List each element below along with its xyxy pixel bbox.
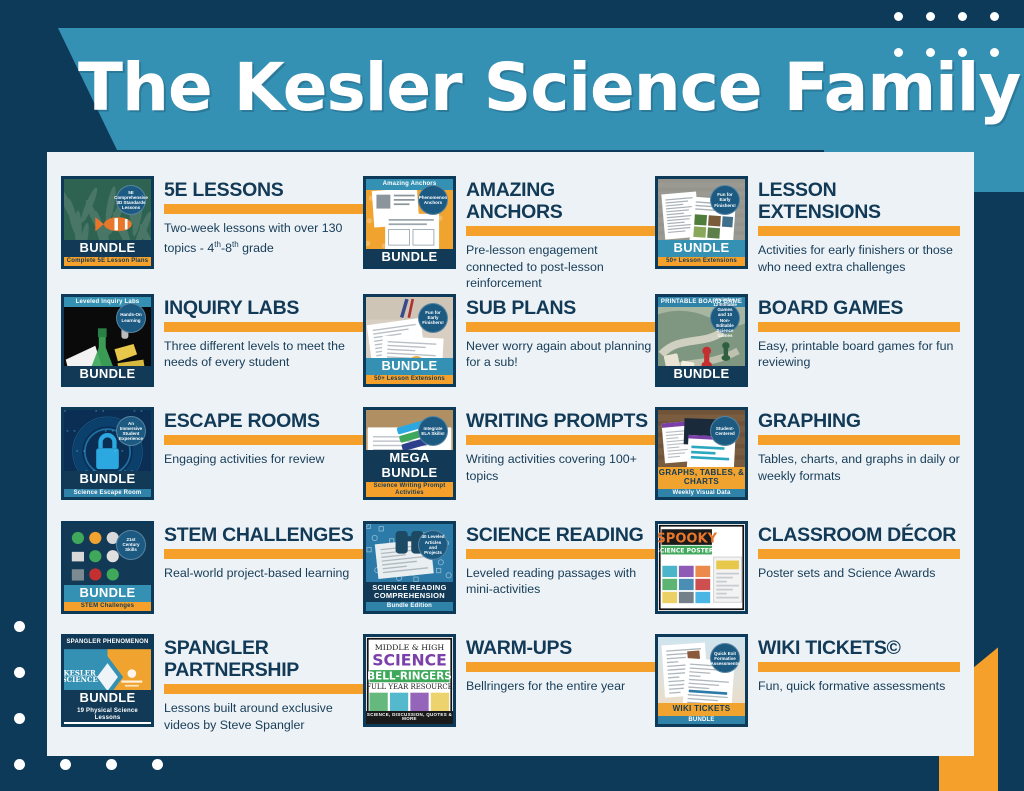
product-text-block: SCIENCE READINGLeveled reading passages …: [466, 521, 655, 598]
product-title: SPANGLER PARTNERSHIP: [164, 637, 363, 681]
poster-canvas: The Kesler Science Family 5E Comprehensi…: [0, 0, 1024, 791]
product-item[interactable]: Student-CenteredGRAPHS, TABLES, & CHARTS…: [655, 405, 960, 519]
title-underline-bar: [758, 226, 960, 236]
thumbnail-caption-group: BUNDLE: [366, 249, 453, 266]
product-thumbnail[interactable]: Integrate ELA Skills!MEGA BUNDLEScience …: [363, 407, 456, 500]
thumbnail-subcaption: Bundle Edition: [366, 602, 453, 611]
svg-text:BELL-RINGERS: BELL-RINGERS: [367, 671, 452, 683]
thumbnail-subcaption: Science Escape Room: [64, 489, 151, 498]
thumbnail-subcaption: 50+ Lesson Extensions: [366, 375, 453, 384]
thumbnail-badge: Hands-On Learning: [116, 303, 146, 333]
thumbnail-subcaption: Science Writing Prompt Activities: [366, 482, 453, 497]
decor-dot: [990, 12, 999, 21]
product-thumbnail[interactable]: Amazing AnchorsPhenomenon AnchorsBUNDLE: [363, 176, 456, 269]
thumbnail-caption-group: SCIENCE READING COMPREHENSIONBundle Edit…: [366, 582, 453, 611]
thumbnail-caption: BUNDLE: [64, 366, 151, 383]
title-underline-bar: [758, 322, 960, 332]
product-thumbnail[interactable]: 40 Leveled Articles and ProjectsSCIENCE …: [363, 521, 456, 614]
thumbnail-caption-group: BUNDLESTEM Challenges: [64, 585, 151, 611]
thumbnail-caption-group: WIKI TICKETSBUNDLE: [658, 703, 745, 724]
title-underline-bar: [164, 684, 363, 694]
product-item[interactable]: 21st Century SkillsBUNDLESTEM Challenges…: [61, 519, 363, 633]
thumbnail-top-label: SPANGLER PHENOMENON: [64, 637, 151, 648]
product-description: Real-world project-based learning: [164, 565, 363, 582]
product-item[interactable]: Amazing AnchorsPhenomenon AnchorsBUNDLEA…: [363, 174, 655, 292]
thumbnail-caption-group: MEGA BUNDLEScience Writing Prompt Activi…: [366, 450, 453, 497]
product-thumbnail[interactable]: SPOOKY SCIENCE POSTERS SPOOKY: [655, 521, 748, 614]
thumbnail-caption-group: BUNDLE: [658, 366, 745, 383]
product-item[interactable]: PRINTABLE BOARD GAMEIncludes 12 Editable…: [655, 292, 960, 406]
title-underline-bar: [466, 435, 655, 445]
thumbnail-caption: BUNDLE: [64, 690, 151, 707]
product-description: Poster sets and Science Awards: [758, 565, 960, 582]
product-description: Bellringers for the entire year: [466, 678, 655, 695]
page-title: The Kesler Science Family: [78, 40, 1020, 136]
product-thumbnail[interactable]: Quick Exit Formative AssessmentsWIKI TIC…: [655, 634, 748, 727]
product-description: Pre-lesson engagement connected to post-…: [466, 242, 655, 292]
product-title: CLASSROOM DÉCOR: [758, 524, 960, 546]
product-text-block: INQUIRY LABSThree different levels to me…: [164, 294, 363, 371]
product-description: Two-week lessons with over 130 topics - …: [164, 220, 363, 256]
thumbnail-caption-group: SCIENCE, DISCUSSION, QUOTES & MORE: [366, 711, 453, 725]
thumbnail-caption: GRAPHS, TABLES, & CHARTS: [658, 467, 745, 489]
product-title: AMAZING ANCHORS: [466, 179, 655, 223]
thumbnail-subcaption: 50+ Lesson Extensions: [658, 257, 745, 266]
product-title: STEM CHALLENGES: [164, 524, 363, 546]
thumbnail-badge: Includes 12 Editable Games and 10 Non-Ed…: [710, 303, 740, 333]
product-thumbnail[interactable]: Student-CenteredGRAPHS, TABLES, & CHARTS…: [655, 407, 748, 500]
svg-text:SCIENCE: SCIENCE: [64, 676, 98, 685]
thumbnail-caption-group: GRAPHS, TABLES, & CHARTSWeekly Visual Da…: [658, 467, 745, 497]
bottom-right-navy-strip: [998, 596, 1024, 791]
product-text-block: SUB PLANSNever worry again about plannin…: [466, 294, 655, 371]
title-underline-bar: [164, 204, 363, 214]
thumbnail-caption-group: BUNDLE50+ Lesson Extensions: [366, 358, 453, 384]
thumbnail-caption: BUNDLE: [366, 358, 453, 375]
product-thumbnail[interactable]: 5E Comprehensive 3D Standards LessonsBUN…: [61, 176, 154, 269]
product-thumbnail[interactable]: Leveled Inquiry LabsHands-On LearningBUN…: [61, 294, 154, 387]
product-title: 5E LESSONS: [164, 179, 363, 201]
product-text-block: ESCAPE ROOMSEngaging activities for revi…: [164, 407, 363, 468]
product-title: ESCAPE ROOMS: [164, 410, 363, 432]
svg-text:FULL YEAR RESOURCE: FULL YEAR RESOURCE: [366, 684, 453, 692]
product-title: LESSON EXTENSIONS: [758, 179, 960, 223]
thumbnail-caption-group: BUNDLEComplete 5E Lesson Plans: [64, 240, 151, 266]
product-title: WARM-UPS: [466, 637, 655, 659]
product-item[interactable]: An Immersive Student ExperienceBUNDLESci…: [61, 405, 363, 519]
thumbnail-badge: 21st Century Skills: [116, 530, 146, 560]
thumbnail-badge: 40 Leveled Articles and Projects: [418, 530, 448, 560]
decor-dot: [14, 759, 25, 770]
thumbnail-caption-group: BUNDLE: [64, 366, 151, 383]
product-text-block: 5E LESSONSTwo-week lessons with over 130…: [164, 176, 363, 256]
thumbnail-badge: Fun for Early Finishers!: [418, 303, 448, 333]
product-description: Fun, quick formative assessments: [758, 678, 960, 695]
decor-dot: [60, 759, 71, 770]
product-text-block: GRAPHINGTables, charts, and graphs in da…: [758, 407, 960, 484]
product-text-block: WARM-UPSBellringers for the entire year: [466, 634, 655, 695]
decor-dot: [14, 667, 25, 678]
thumbnail-badge: Integrate ELA Skills!: [418, 416, 448, 446]
product-text-block: STEM CHALLENGESReal-world project-based …: [164, 521, 363, 582]
product-title: BOARD GAMES: [758, 297, 960, 319]
thumbnail-caption: BUNDLE: [658, 240, 745, 257]
product-text-block: WRITING PROMPTSWriting activities coveri…: [466, 407, 655, 484]
product-item[interactable]: 40 Leveled Articles and ProjectsSCIENCE …: [363, 519, 655, 633]
product-thumbnail[interactable]: KESLER SCIENCE SPANGLER PHENOMENONBUNDLE…: [61, 634, 154, 727]
product-item[interactable]: SPOOKY SCIENCE POSTERS SPOOKYCLASSROOM D…: [655, 519, 960, 633]
product-title: SCIENCE READING: [466, 524, 655, 546]
thumbnail-caption-group: BUNDLEScience Escape Room: [64, 471, 151, 497]
thumbnail-caption-group: BUNDLE50+ Lesson Extensions: [658, 240, 745, 266]
products-card: 5E Comprehensive 3D Standards LessonsBUN…: [47, 152, 974, 756]
product-description: Three different levels to meet the needs…: [164, 338, 363, 371]
product-thumbnail[interactable]: An Immersive Student ExperienceBUNDLESci…: [61, 407, 154, 500]
title-underline-bar: [164, 549, 363, 559]
title-underline-bar: [466, 549, 655, 559]
decor-dot: [106, 759, 117, 770]
thumbnail-subcaption: STEM Challenges: [64, 602, 151, 611]
thumbnail-badge: Student-Centered: [710, 416, 740, 446]
thumbnail-caption-group: BUNDLE19 Physical Science Lessons: [64, 690, 151, 724]
thumbnail-badge: Phenomenon Anchors: [418, 185, 448, 215]
title-underline-bar: [466, 662, 655, 672]
title-underline-bar: [164, 322, 363, 332]
product-description: Writing activities covering 100+ topics: [466, 451, 655, 484]
products-grid: 5E Comprehensive 3D Standards LessonsBUN…: [61, 174, 960, 746]
product-text-block: AMAZING ANCHORSPre-lesson engagement con…: [466, 176, 655, 292]
thumbnail-caption: BUNDLE: [64, 240, 151, 257]
product-item[interactable]: Quick Exit Formative AssessmentsWIKI TIC…: [655, 632, 960, 746]
product-thumbnail[interactable]: 21st Century SkillsBUNDLESTEM Challenges: [61, 521, 154, 614]
product-description: Activities for early finishers or those …: [758, 242, 960, 275]
thumbnail-subcaption: Weekly Visual Data: [658, 489, 745, 498]
product-title: SUB PLANS: [466, 297, 655, 319]
decor-dot: [958, 12, 967, 21]
title-underline-bar: [466, 322, 655, 332]
thumbnail-subcaption: 19 Physical Science Lessons: [64, 707, 151, 724]
title-underline-bar: [164, 435, 363, 445]
product-item[interactable]: Fun for Early Finishers!BUNDLE50+ Lesson…: [655, 174, 960, 292]
title-underline-bar: [758, 435, 960, 445]
product-description: Leveled reading passages with mini-activ…: [466, 565, 655, 598]
thumbnail-badge: Fun for Early Finishers!: [710, 185, 740, 215]
product-item[interactable]: Leveled Inquiry LabsHands-On LearningBUN…: [61, 292, 363, 406]
product-title: WRITING PROMPTS: [466, 410, 655, 432]
decor-dot: [152, 759, 163, 770]
product-title: INQUIRY LABS: [164, 297, 363, 319]
thumbnail-artwork: SPOOKY SCIENCE POSTERS: [658, 524, 745, 611]
product-thumbnail[interactable]: Fun for Early Finishers!BUNDLE50+ Lesson…: [363, 294, 456, 387]
decor-dot: [926, 12, 935, 21]
product-description: Tables, charts, and graphs in daily or w…: [758, 451, 960, 484]
product-thumbnail[interactable]: PRINTABLE BOARD GAMEIncludes 12 Editable…: [655, 294, 748, 387]
thumbnail-caption: BUNDLE: [64, 585, 151, 602]
product-text-block: WIKI TICKETS©Fun, quick formative assess…: [758, 634, 960, 695]
product-text-block: BOARD GAMESEasy, printable board games f…: [758, 294, 960, 371]
thumbnail-badge: 5E Comprehensive 3D Standards Lessons: [116, 185, 146, 215]
product-item[interactable]: MIDDLE & HIGH SCIENCE BELL-RINGERS FULL …: [363, 632, 655, 746]
thumbnail-caption: BUNDLE: [64, 471, 151, 488]
svg-text:SCIENCE: SCIENCE: [372, 651, 447, 670]
product-description: Lessons built around exclusive videos by…: [164, 700, 363, 733]
product-description: Engaging activities for review: [164, 451, 363, 468]
thumbnail-subcaption: BUNDLE: [658, 716, 745, 725]
product-text-block: LESSON EXTENSIONSActivities for early fi…: [758, 176, 960, 275]
product-text-block: SPANGLER PARTNERSHIPLessons built around…: [164, 634, 363, 733]
svg-text:SCIENCE POSTERS: SCIENCE POSTERS: [658, 547, 718, 554]
title-underline-bar: [758, 549, 960, 559]
title-underline-bar: [758, 662, 960, 672]
product-text-block: CLASSROOM DÉCORPoster sets and Science A…: [758, 521, 960, 582]
thumbnail-caption: SCIENCE READING COMPREHENSION: [366, 582, 453, 603]
thumbnail-caption: MEGA BUNDLE: [366, 450, 453, 482]
thumbnail-caption: BUNDLE: [658, 366, 745, 383]
thumbnail-badge: An Immersive Student Experience: [116, 416, 146, 446]
product-title: WIKI TICKETS©: [758, 637, 960, 659]
product-description: Never worry again about planning for a s…: [466, 338, 655, 371]
product-thumbnail[interactable]: Fun for Early Finishers!BUNDLE50+ Lesson…: [655, 176, 748, 269]
decor-dot: [894, 12, 903, 21]
product-item[interactable]: Fun for Early Finishers!BUNDLE50+ Lesson…: [363, 292, 655, 406]
thumbnail-subcaption: Complete 5E Lesson Plans: [64, 257, 151, 266]
product-thumbnail[interactable]: MIDDLE & HIGH SCIENCE BELL-RINGERS FULL …: [363, 634, 456, 727]
svg-text:SPOOKY: SPOOKY: [658, 531, 718, 546]
product-item[interactable]: Integrate ELA Skills!MEGA BUNDLEScience …: [363, 405, 655, 519]
decor-dot: [14, 713, 25, 724]
product-description: Easy, printable board games for fun revi…: [758, 338, 960, 371]
product-item[interactable]: KESLER SCIENCE SPANGLER PHENOMENONBUNDLE…: [61, 632, 363, 746]
decor-dot: [14, 621, 25, 632]
title-underline-bar: [466, 226, 655, 236]
thumbnail-caption: SCIENCE, DISCUSSION, QUOTES & MORE: [366, 711, 453, 725]
thumbnail-caption: WIKI TICKETS: [658, 703, 745, 716]
thumbnail-caption: BUNDLE: [366, 249, 453, 266]
product-title: GRAPHING: [758, 410, 960, 432]
product-item[interactable]: 5E Comprehensive 3D Standards LessonsBUN…: [61, 174, 363, 292]
